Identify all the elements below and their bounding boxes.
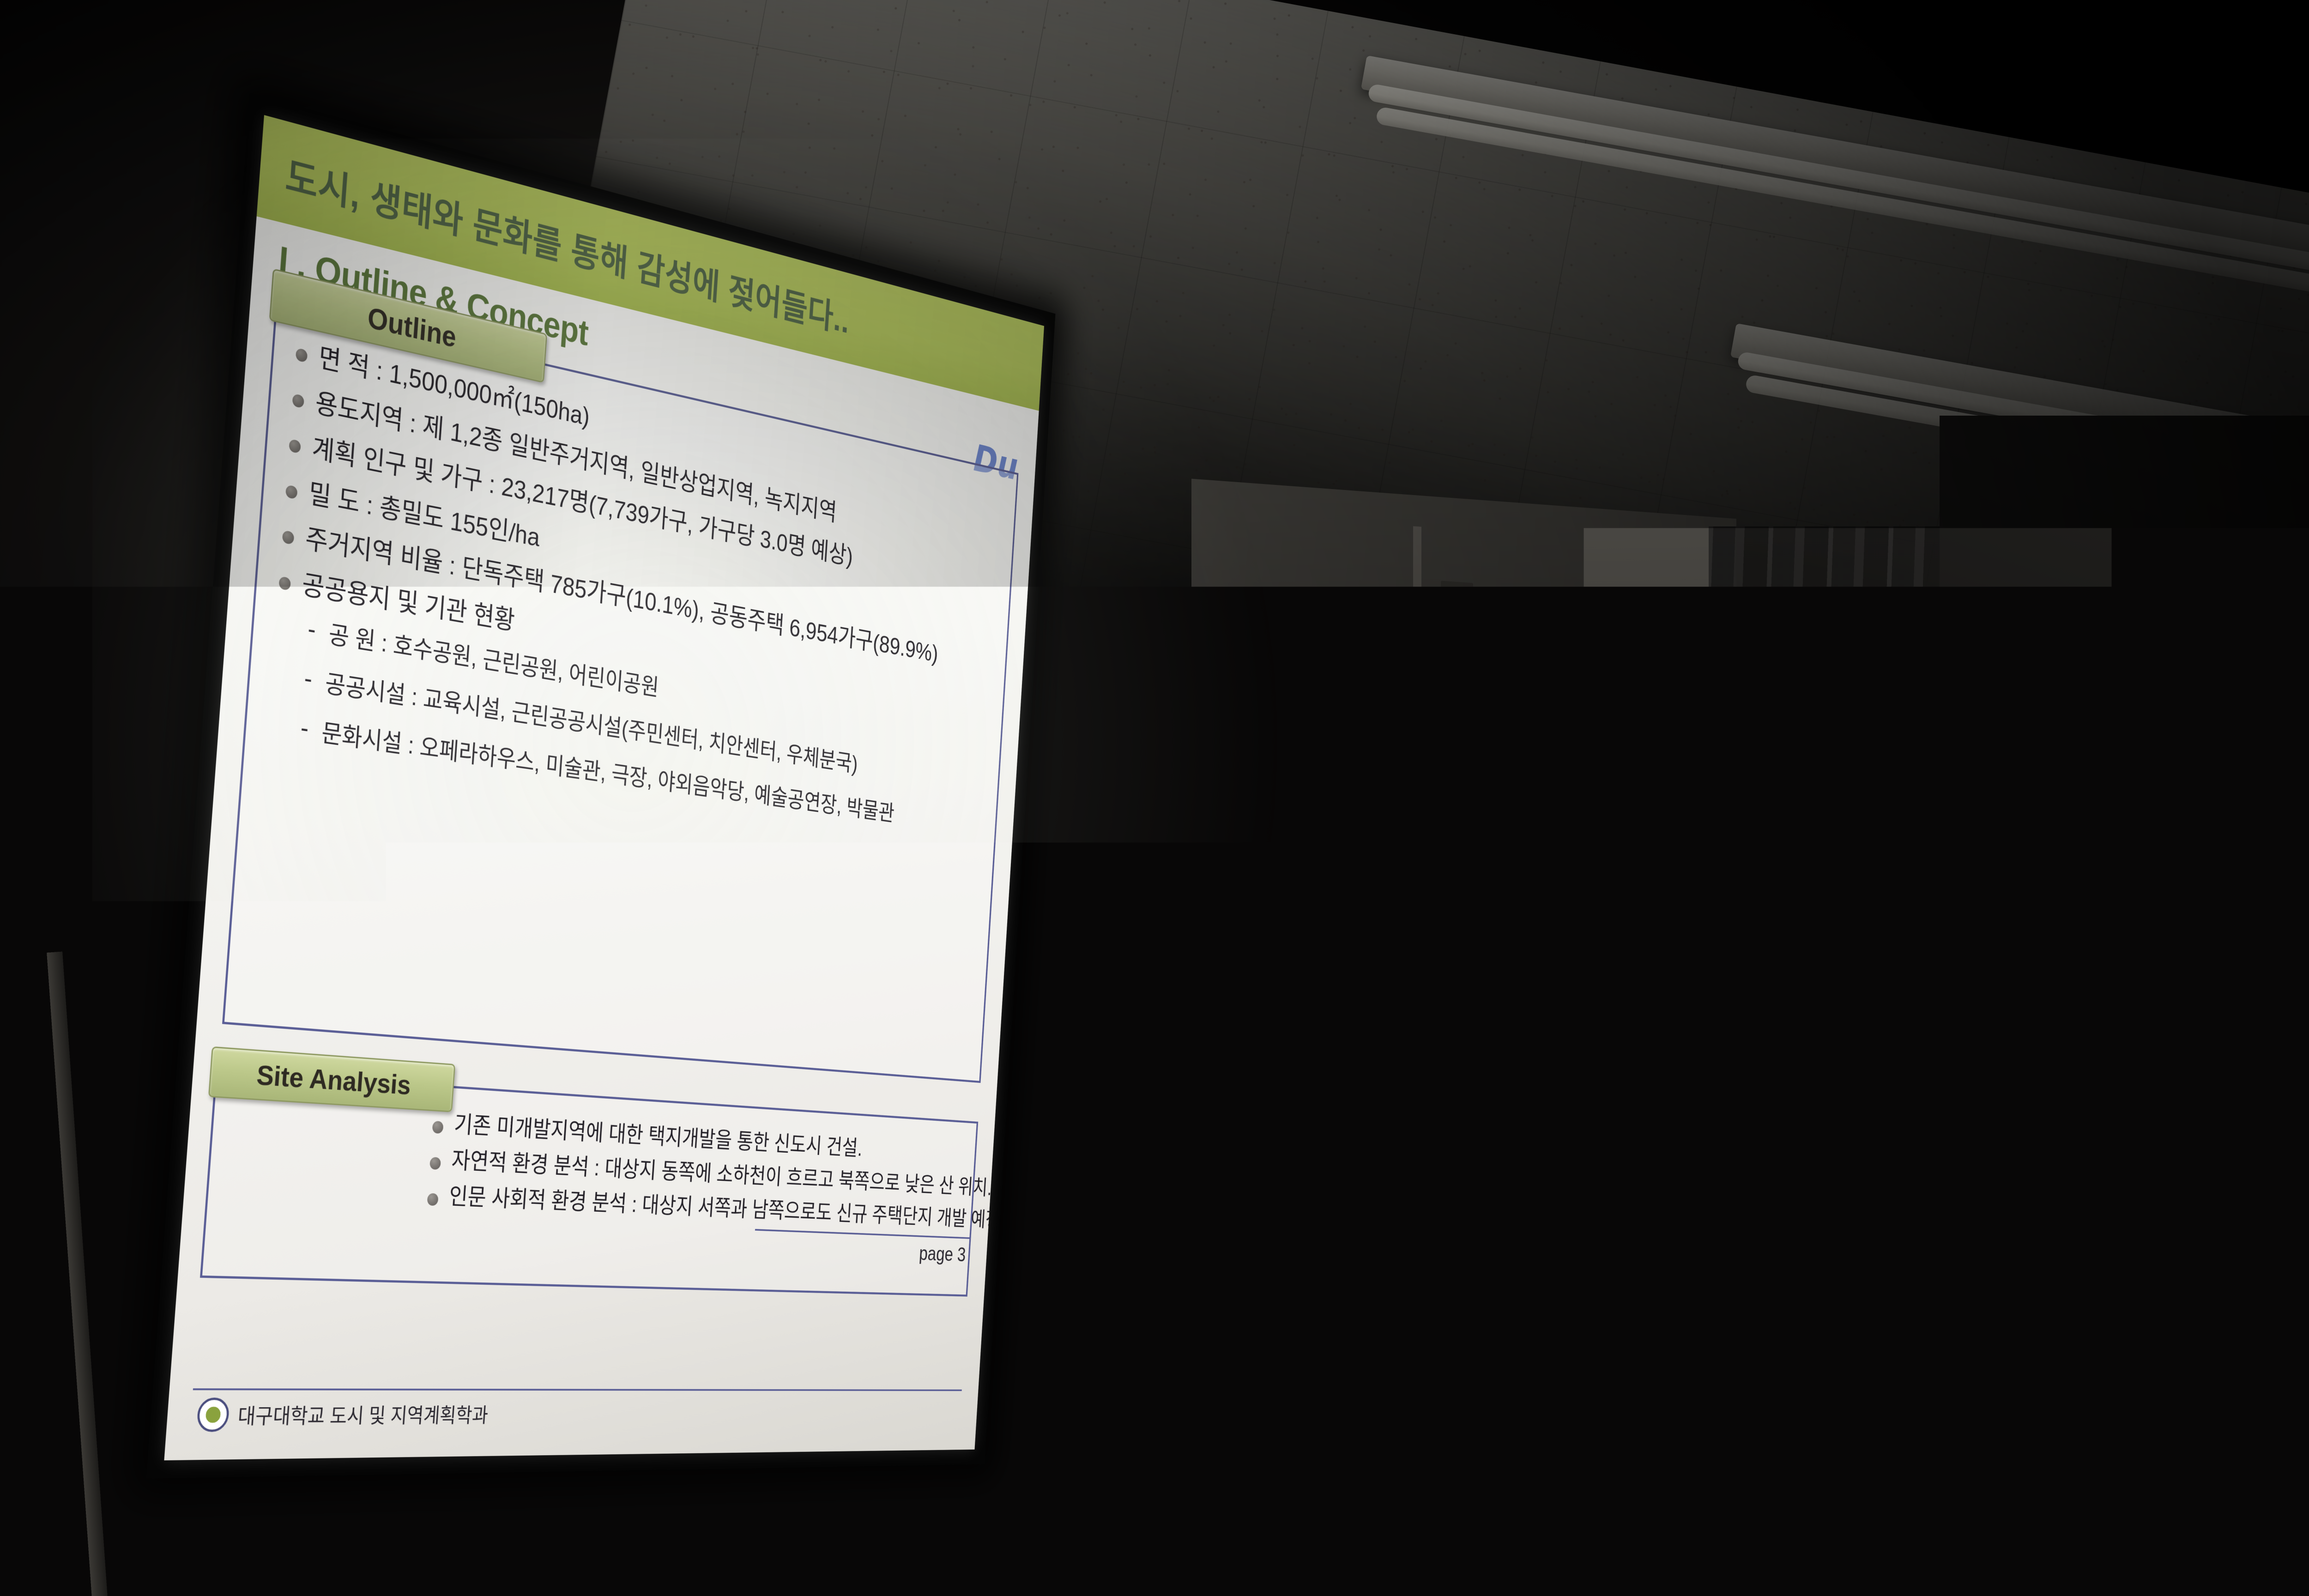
- person-far-right: [1856, 693, 2078, 1385]
- shoe: [1566, 1409, 1639, 1437]
- shoe: [1496, 1404, 1570, 1433]
- torso: [1856, 804, 2078, 1385]
- presentation-board: [0, 958, 439, 1596]
- photo-canvas: 도시, 생태와 문화를 통해 감성에 젖어들다.. I . Outline & …: [0, 0, 2309, 1596]
- glasses-icon: [1456, 813, 1543, 831]
- site-plan-map: [0, 1135, 262, 1596]
- head: [1916, 693, 2023, 822]
- wall-control-box: [1441, 581, 1473, 653]
- status-led-icon: [1445, 628, 1455, 638]
- head: [1612, 683, 1750, 859]
- handout-paper: [1758, 1132, 1896, 1301]
- page-number: page 3: [919, 1242, 967, 1266]
